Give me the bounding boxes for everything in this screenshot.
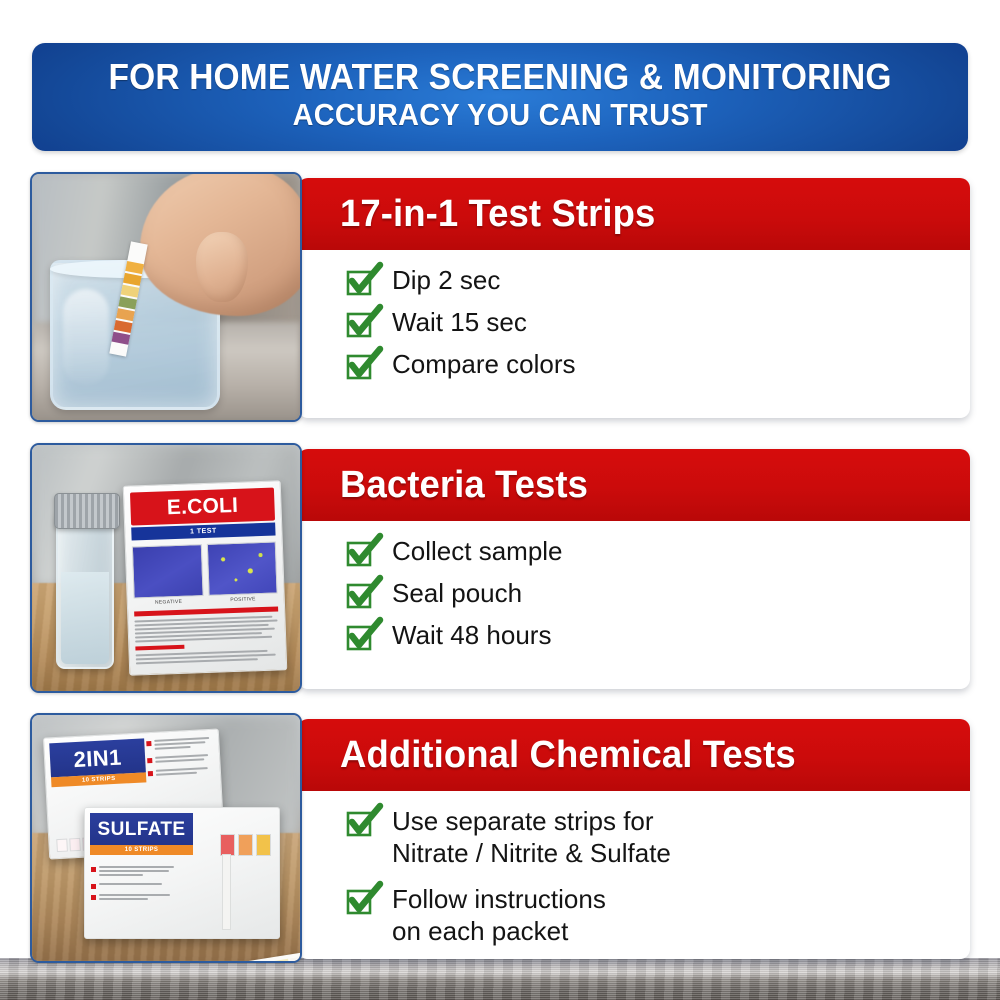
section-bacteria-tests: E.COLI 1 TEST NEGATIVE POSITIVE — [0, 443, 1000, 695]
bullet-list: Collect sample Seal pouch — [344, 535, 970, 653]
list-item: Use separate strips for Nitrate / Nitrit… — [344, 805, 970, 869]
check-box-icon — [344, 883, 380, 917]
list-item: Collect sample — [344, 535, 970, 569]
card-body-test-strips: Dip 2 sec Wait 15 sec — [298, 250, 970, 382]
card-header-additional-chemical-tests: Additional Chemical Tests — [298, 719, 970, 791]
check-box-icon — [344, 264, 380, 298]
list-item-label: Collect sample — [392, 535, 563, 568]
sample-label-positive: POSITIVE — [208, 595, 278, 603]
sample-vial-object — [56, 511, 114, 669]
check-box-icon — [344, 348, 380, 382]
card-additional-chemical-tests: Additional Chemical Tests Use separate s… — [298, 719, 970, 959]
pouch-brand-label: E.COLI — [130, 488, 275, 526]
card-title: Additional Chemical Tests — [340, 734, 796, 777]
pouch-count-label: 1 TEST — [131, 523, 275, 541]
packet-title: SULFATE — [90, 813, 193, 845]
check-box-icon — [344, 577, 380, 611]
list-item: Dip 2 sec — [344, 264, 970, 298]
banner-line-1: FOR HOME WATER SCREENING & MONITORING — [108, 59, 891, 96]
list-item: Wait 48 hours — [344, 619, 970, 653]
card-title: Bacteria Tests — [340, 464, 588, 507]
check-box-icon — [344, 619, 380, 653]
list-item: Wait 15 sec — [344, 306, 970, 340]
list-item-label: Wait 15 sec — [392, 306, 527, 339]
sample-label-negative: NEGATIVE — [134, 598, 204, 606]
list-item-label: Dip 2 sec — [392, 264, 500, 297]
packet-sulfate-object: SULFATE 10 STRIPS — [84, 807, 280, 939]
packet-count: 10 STRIPS — [90, 845, 193, 855]
list-item-label: Follow instructions on each packet — [392, 883, 606, 947]
list-item-label: Compare colors — [392, 348, 576, 381]
card-title: 17-in-1 Test Strips — [340, 193, 655, 236]
photo-dip-strip-in-glass — [30, 172, 302, 422]
card-body-additional-chemical-tests: Use separate strips for Nitrate / Nitrit… — [298, 791, 970, 948]
check-box-icon — [344, 306, 380, 340]
list-item-label: Wait 48 hours — [392, 619, 551, 652]
list-item: Seal pouch — [344, 577, 970, 611]
bottom-wood-texture-band — [0, 958, 1000, 1000]
check-box-icon — [344, 535, 380, 569]
list-item: Follow instructions on each packet — [344, 883, 970, 947]
photo-ecoli-pouch-and-vial: E.COLI 1 TEST NEGATIVE POSITIVE — [30, 443, 302, 693]
card-test-strips: 17-in-1 Test Strips Dip 2 sec — [298, 178, 970, 418]
list-item: Compare colors — [344, 348, 970, 382]
check-box-icon — [344, 805, 380, 839]
ecoli-pouch-object: E.COLI 1 TEST NEGATIVE POSITIVE — [123, 480, 288, 675]
card-bacteria-tests: Bacteria Tests Collect sample — [298, 449, 970, 689]
headline-banner: FOR HOME WATER SCREENING & MONITORING AC… — [32, 43, 968, 151]
card-header-bacteria-tests: Bacteria Tests — [298, 449, 970, 521]
section-test-strips: 17-in-1 Test Strips Dip 2 sec — [0, 172, 1000, 424]
infographic-page: FOR HOME WATER SCREENING & MONITORING AC… — [0, 0, 1000, 1000]
bullet-list: Dip 2 sec Wait 15 sec — [344, 264, 970, 382]
list-item-label: Seal pouch — [392, 577, 522, 610]
packet-title: 2IN1 — [49, 738, 146, 777]
card-body-bacteria-tests: Collect sample Seal pouch — [298, 521, 970, 653]
card-header-test-strips: 17-in-1 Test Strips — [298, 178, 970, 250]
banner-line-2: ACCURACY YOU CAN TRUST — [292, 96, 707, 135]
list-item-label: Use separate strips for Nitrate / Nitrit… — [392, 805, 671, 869]
photo-chemical-packets: 2IN1 10 STRIPS SULFATE — [30, 713, 302, 963]
section-additional-chemical-tests: 2IN1 10 STRIPS SULFATE — [0, 713, 1000, 965]
bullet-list: Use separate strips for Nitrate / Nitrit… — [344, 805, 970, 948]
